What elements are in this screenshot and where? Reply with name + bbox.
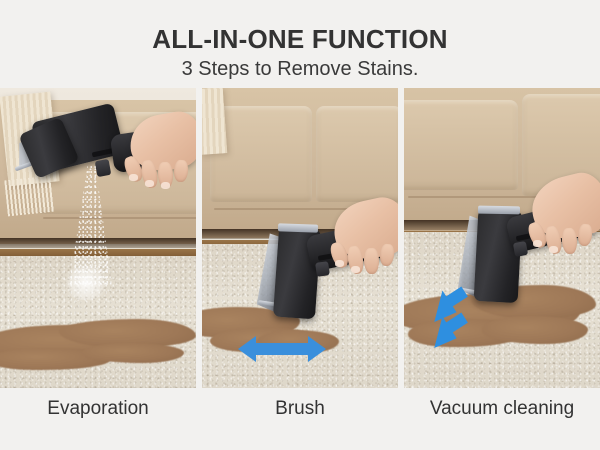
panel-evaporation (0, 88, 196, 388)
panel-strip (0, 88, 600, 388)
fingernail (145, 180, 154, 187)
device-top-plate (478, 206, 520, 215)
throw-blanket (202, 88, 228, 155)
sofa-cushion (316, 106, 398, 202)
caption-evaporation: Evaporation (0, 392, 196, 432)
fingernail (351, 266, 360, 273)
page-title: ALL-IN-ONE FUNCTION (0, 24, 600, 54)
carpet-stain (82, 343, 184, 363)
sofa-cushion (404, 100, 518, 190)
fingernail (549, 246, 558, 253)
fingernail (161, 182, 170, 189)
fingernail (533, 240, 542, 247)
spray-splash (62, 266, 110, 300)
caption-strip: Evaporation Brush Vacuum cleaning (0, 392, 600, 432)
caption-brush: Brush (202, 392, 398, 432)
sofa-seam (43, 217, 196, 219)
device-trigger (95, 159, 112, 177)
page-subtitle: 3 Steps to Remove Stains. (0, 57, 600, 81)
finger (364, 248, 380, 275)
suction-arrows (424, 284, 494, 346)
header-block: ALL-IN-ONE FUNCTION 3 Steps to Remove St… (0, 0, 600, 88)
fingernail (129, 174, 138, 181)
device-top-plate (278, 223, 318, 232)
promo-image-root: ALL-IN-ONE FUNCTION 3 Steps to Remove St… (0, 0, 600, 450)
device-trigger (315, 261, 330, 277)
sofa-seam (408, 196, 545, 198)
fingernail (335, 260, 344, 267)
panel-vacuum (404, 88, 600, 388)
device-trigger (513, 241, 528, 257)
panel-brush (202, 88, 398, 388)
caption-vacuum-cleaning: Vacuum cleaning (404, 392, 600, 432)
throw-fringe (4, 176, 55, 217)
back-and-forth-arrow (236, 332, 328, 366)
